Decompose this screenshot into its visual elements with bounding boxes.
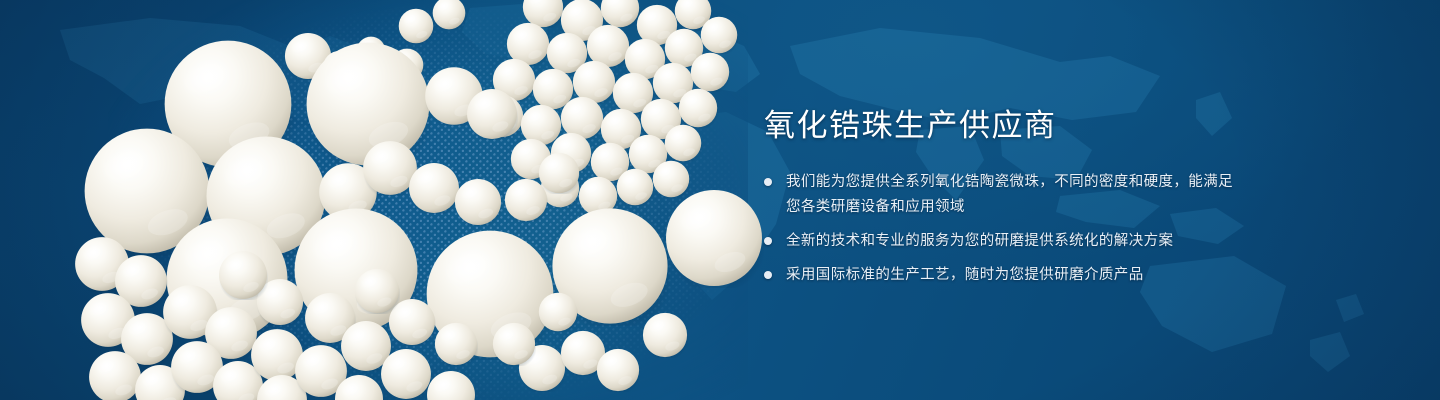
hero-banner: 氧化锆珠生产供应商 我们能为您提供全系列氧化锆陶瓷微珠，不同的密度和硬度，能满足… [0,0,1440,400]
feature-list: 我们能为您提供全系列氧化锆陶瓷微珠，不同的密度和硬度，能满足您各类研磨设备和应用… [764,170,1234,288]
list-item: 全新的技术和专业的服务为您的研磨提供系统化的解决方案 [764,229,1234,254]
bullet-dot-icon [764,271,772,279]
page-title: 氧化锆珠生产供应商 [764,106,1234,146]
list-item: 采用国际标准的生产工艺，随时为您提供研磨介质产品 [764,263,1234,288]
feature-text: 全新的技术和专业的服务为您的研磨提供系统化的解决方案 [786,229,1173,254]
ceramic-beads-illustration [108,0,748,400]
banner-copy: 氧化锆珠生产供应商 我们能为您提供全系列氧化锆陶瓷微珠，不同的密度和硬度，能满足… [764,106,1234,297]
list-item: 我们能为您提供全系列氧化锆陶瓷微珠，不同的密度和硬度，能满足您各类研磨设备和应用… [764,170,1234,220]
zirconia-beads-photo [108,0,748,400]
bullet-dot-icon [764,237,772,245]
feature-text: 采用国际标准的生产工艺，随时为您提供研磨介质产品 [786,263,1144,288]
bullet-dot-icon [764,178,772,186]
feature-text: 我们能为您提供全系列氧化锆陶瓷微珠，不同的密度和硬度，能满足您各类研磨设备和应用… [786,170,1234,220]
